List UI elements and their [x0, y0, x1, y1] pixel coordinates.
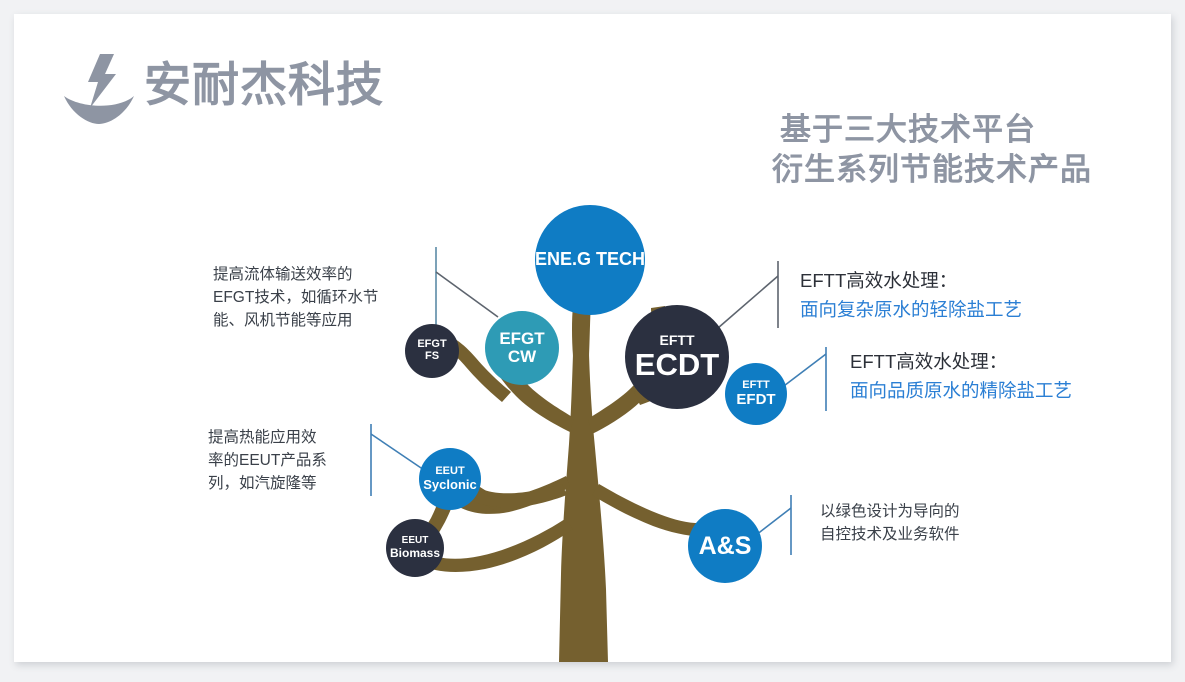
annotation-title: EFTT高效水处理：: [850, 347, 1072, 376]
tree-node-ecdt[interactable]: EFTTECDT: [625, 305, 729, 409]
tree-node-a-and-s[interactable]: A&S: [688, 509, 762, 583]
annotation-detail: 面向品质原水的精除盐工艺: [850, 376, 1072, 405]
annotation-detail: 面向复杂原水的轻除盐工艺: [800, 295, 1022, 324]
slide-card: 安耐杰科技 基于三大技术平台 衍生系列节能技术产品 ENE.G TECHEFGT…: [14, 14, 1171, 662]
tree-node-efgt-cw[interactable]: EFGTCW: [485, 311, 559, 385]
tree-node-label: FS: [425, 351, 439, 363]
tree-node-eeut-syclonic[interactable]: EEUTSyclonic: [419, 448, 481, 510]
annotation-eftt-efdt-note: EFTT高效水处理：面向品质原水的精除盐工艺: [850, 347, 1072, 405]
tree-node-label: A&S: [699, 533, 752, 560]
page-title-line-2: 衍生系列节能技术产品: [574, 150, 1134, 190]
annotation-eftt-ecdt-note: EFTT高效水处理：面向复杂原水的轻除盐工艺: [800, 266, 1022, 324]
tree-node-label: Syclonic: [423, 478, 476, 492]
annotation-line: 列，如汽旋隆等: [208, 472, 327, 495]
tree-node-sublabel: EFGT: [499, 330, 544, 348]
tree-node-label: Biomass: [390, 547, 440, 560]
annotation-title: EFTT高效水处理：: [800, 266, 1022, 295]
tree-node-label: ENE.G TECH: [535, 250, 645, 269]
tree-node-eeut-biomass[interactable]: EEUTBiomass: [386, 519, 444, 577]
slide-root: 安耐杰科技 基于三大技术平台 衍生系列节能技术产品 ENE.G TECHEFGT…: [0, 0, 1185, 682]
annotation-line: 率的EEUT产品系: [208, 449, 327, 472]
annotation-line: 提高流体输送效率的: [213, 263, 378, 286]
annotation-line: 以绿色设计为导向的: [820, 500, 960, 523]
annotation-efgt-note: 提高流体输送效率的EFGT技术，如循环水节能、风机节能等应用: [213, 263, 378, 332]
page-title: 基于三大技术平台 衍生系列节能技术产品: [574, 110, 1134, 190]
tree-node-label: ECDT: [635, 348, 719, 381]
tree-node-label: EFDT: [736, 392, 775, 408]
tree-node-efgt-fs[interactable]: EFGTFS: [405, 324, 459, 378]
annotation-line: EFGT技术，如循环水节: [213, 286, 378, 309]
tree-node-label: CW: [508, 348, 536, 366]
annotation-line: 能、风机节能等应用: [213, 309, 378, 332]
annotation-eeut-note: 提高热能应用效率的EEUT产品系列，如汽旋隆等: [208, 426, 327, 495]
annotation-line: 提高热能应用效: [208, 426, 327, 449]
annotation-a-and-s-note: 以绿色设计为导向的自控技术及业务软件: [820, 500, 960, 546]
tree-node-sublabel: EFTT: [660, 333, 695, 348]
page-title-line-1: 基于三大技术平台: [574, 110, 1134, 150]
tree-node-ene-g-tech[interactable]: ENE.G TECH: [535, 205, 645, 315]
tree-node-eftt-efdt[interactable]: EFTTEFDT: [725, 363, 787, 425]
company-logo: 安耐杰科技: [60, 50, 380, 128]
lightning-bolt-swoosh-logo-icon: [60, 52, 138, 126]
annotation-line: 自控技术及业务软件: [820, 523, 960, 546]
company-name: 安耐杰科技: [144, 52, 384, 118]
